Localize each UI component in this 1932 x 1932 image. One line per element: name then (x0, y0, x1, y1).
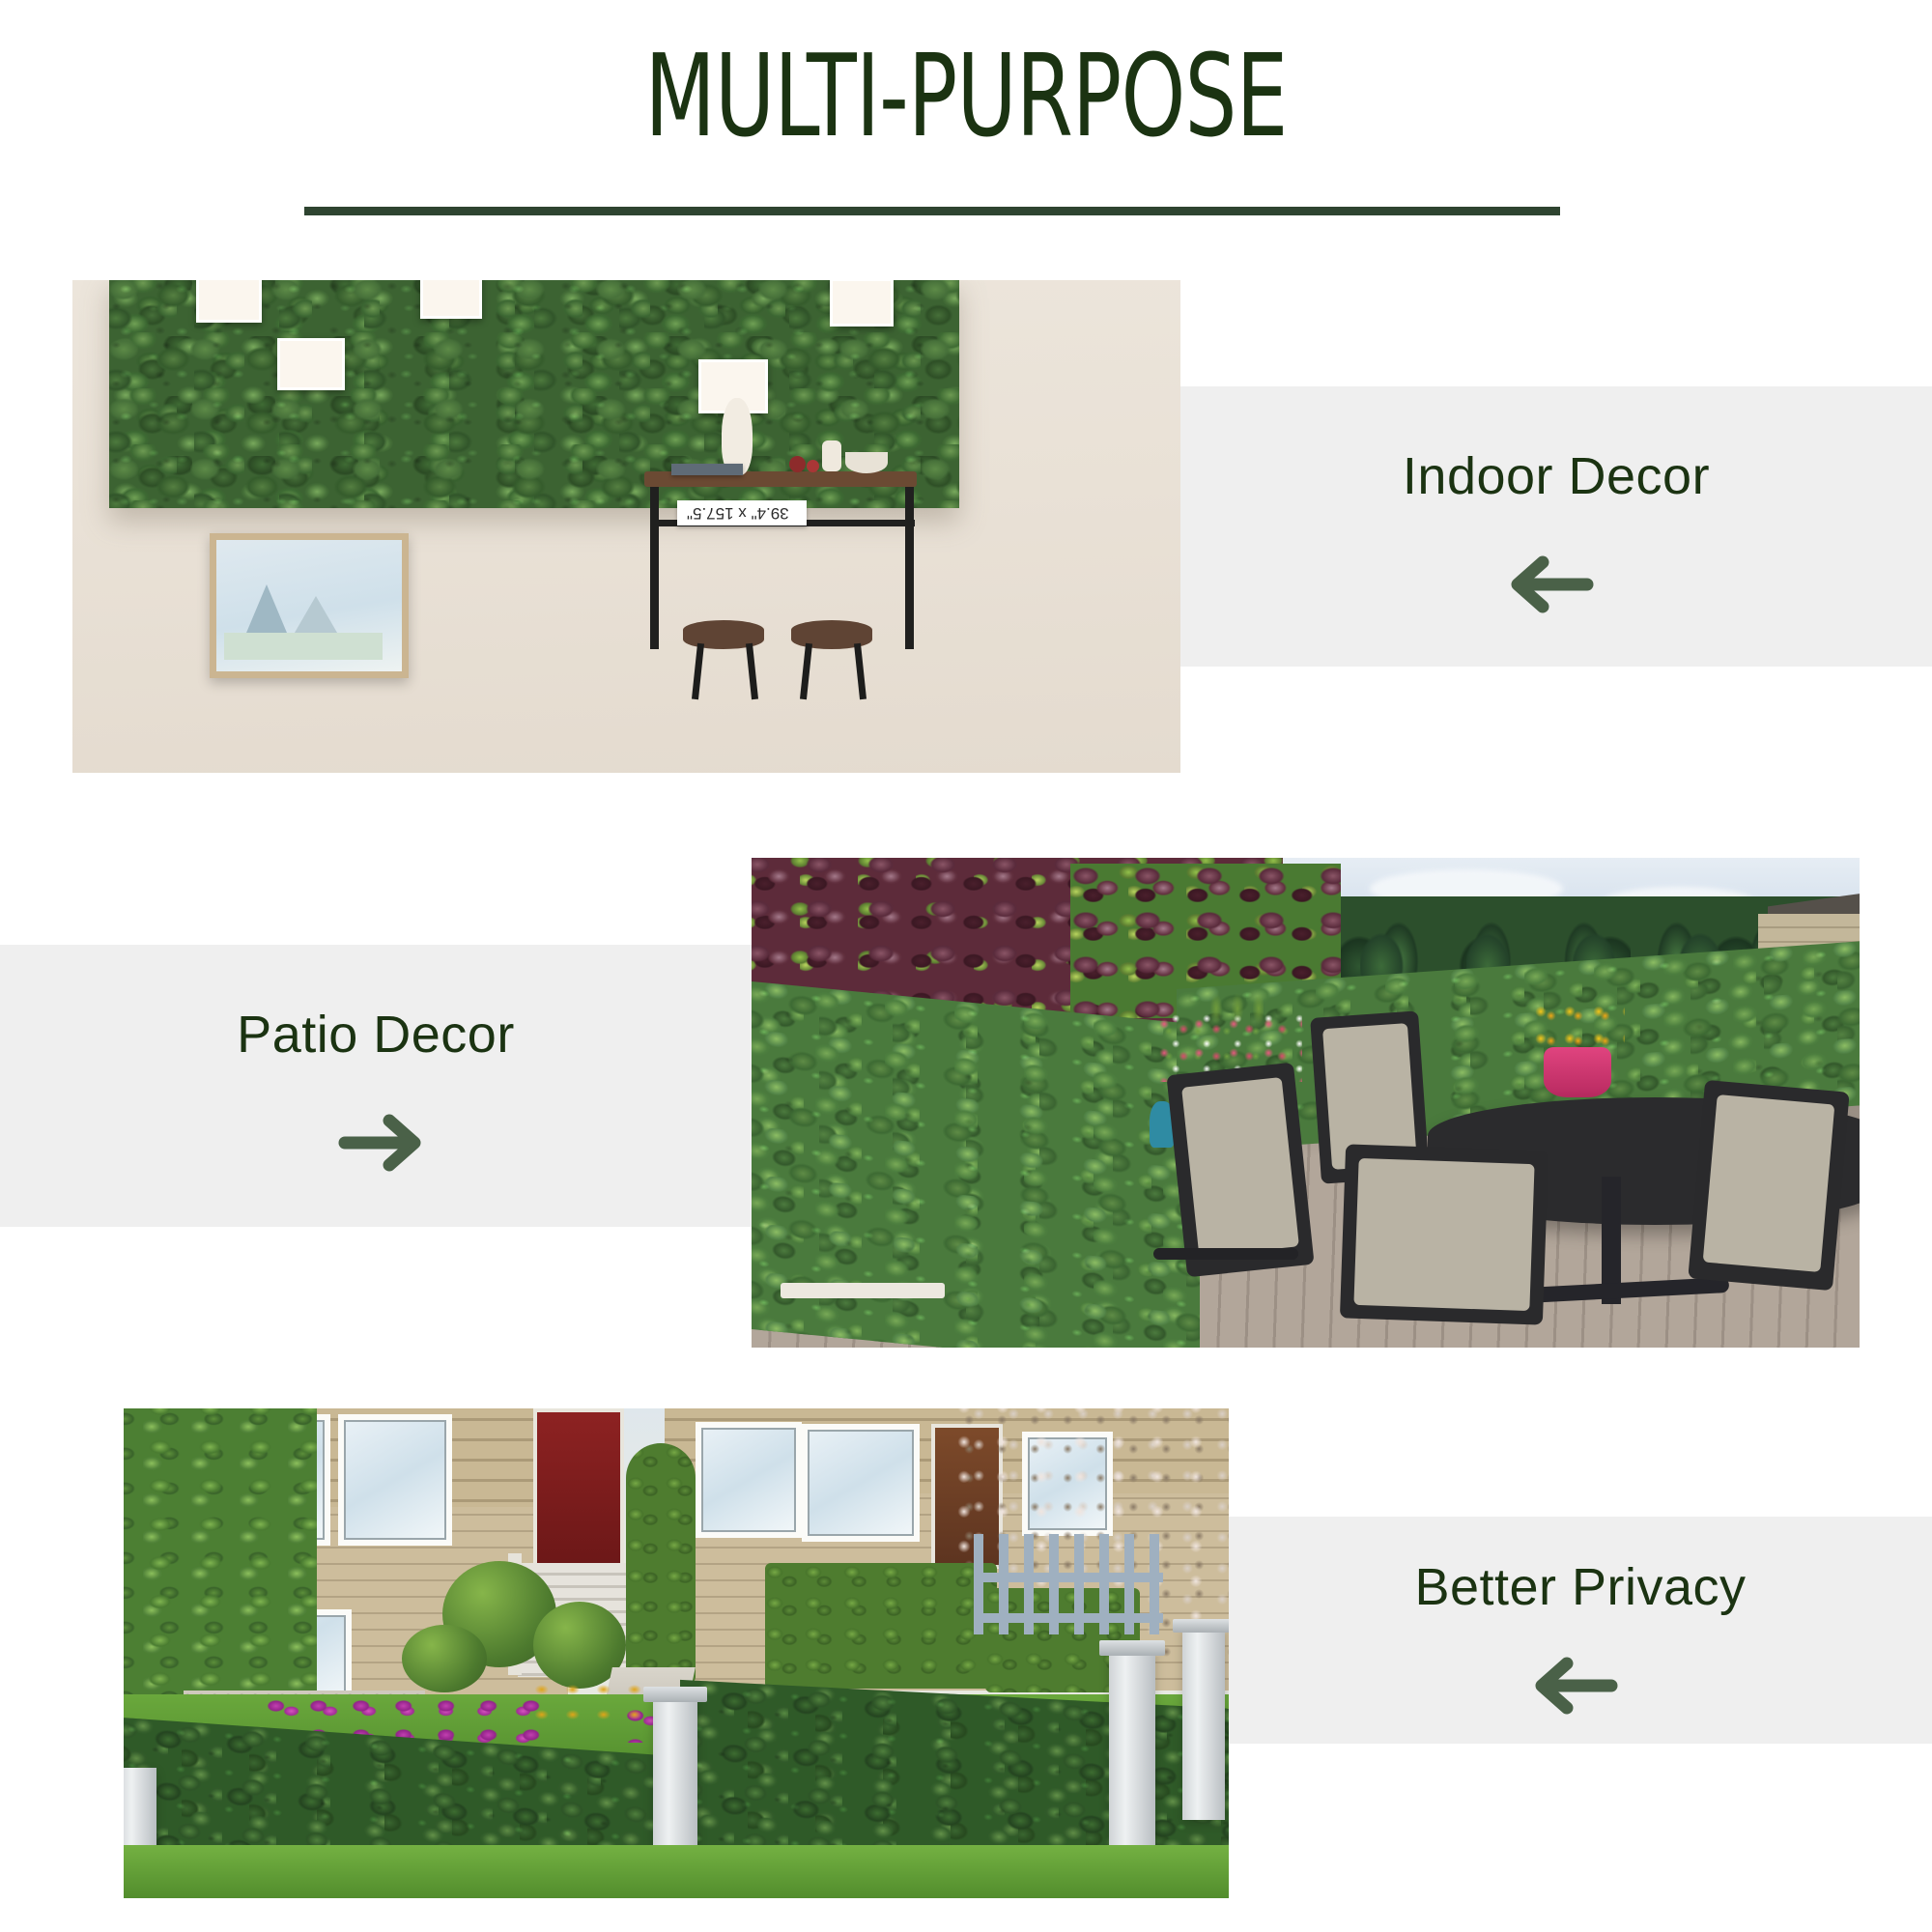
price-booklet: 39.4" x 157.5" (677, 500, 807, 526)
patio-chair-left-mesh (1181, 1077, 1299, 1257)
hedge-ball-3 (402, 1625, 487, 1692)
fence-post-right-cap (1099, 1640, 1165, 1656)
patio-decor-arrow (0, 1104, 752, 1181)
yellow-flowers (1532, 1001, 1625, 1055)
privacy-scene (124, 1408, 1229, 1898)
deck-trim-board (781, 1283, 945, 1298)
decor-ball-1 (789, 456, 806, 472)
pinned-photo-2 (420, 280, 482, 319)
fence-post-far-right-cap (1173, 1619, 1229, 1633)
pinned-photo-1 (196, 280, 262, 323)
framed-artwork (210, 533, 409, 678)
header: MULTI-PURPOSE (0, 0, 1932, 232)
better-privacy-photo (124, 1408, 1229, 1898)
arrow-left-icon (1504, 554, 1608, 614)
console-table-leg-left (650, 487, 659, 649)
better-privacy-band: Better Privacy (1229, 1517, 1932, 1744)
indoor-decor-arrow (1180, 546, 1932, 623)
booklet-size-text: 39.4" x 157.5" (687, 503, 789, 523)
console-table-leg-right (905, 487, 914, 649)
table-magazine (671, 464, 743, 475)
better-privacy-label: Better Privacy (1229, 1557, 1932, 1617)
patio-chair-left-legs (1153, 1248, 1298, 1260)
decor-candle (822, 440, 841, 471)
better-privacy-arrow (1229, 1652, 1932, 1719)
hedge-row-right (765, 1563, 997, 1689)
yellow-flower-bed (529, 1677, 645, 1719)
pinned-photo-5 (830, 280, 894, 327)
decor-bowl (845, 452, 888, 473)
indoor-scene: 39.4" x 157.5" (72, 280, 1180, 773)
patio-scene (752, 858, 1860, 1348)
arrow-left-icon (1528, 1656, 1633, 1716)
patio-decor-label: Patio Decor (0, 1005, 752, 1065)
indoor-decor-photo: 39.4" x 157.5" (72, 280, 1180, 773)
front-door-red (533, 1408, 624, 1578)
foreground-lawn (124, 1845, 1229, 1898)
spiky-grass-plant (1206, 980, 1264, 1028)
picket-fence-rail-bottom (974, 1613, 1163, 1623)
patio-chair-right-mesh (1703, 1094, 1835, 1272)
patio-decor-band: Patio Decor (0, 945, 752, 1227)
arrow-right-icon (324, 1113, 428, 1173)
house-right-window-1 (696, 1422, 802, 1538)
patio-decor-photo (752, 858, 1860, 1348)
fence-post-center-cap (643, 1687, 707, 1702)
page-title: MULTI-PURPOSE (193, 37, 1739, 156)
hedge-column-center (626, 1443, 696, 1683)
title-underline-rule (304, 207, 1560, 215)
indoor-decor-band: Indoor Decor (1180, 386, 1932, 667)
house-left-window-upper-2 (338, 1414, 452, 1546)
pinned-photo-3 (277, 338, 345, 390)
fence-post-far-right (1182, 1627, 1225, 1820)
house-right-window-2 (802, 1424, 920, 1542)
decor-ball-2 (807, 460, 819, 472)
indoor-decor-label: Indoor Decor (1180, 446, 1932, 506)
patio-chair-front-mesh (1353, 1158, 1534, 1311)
